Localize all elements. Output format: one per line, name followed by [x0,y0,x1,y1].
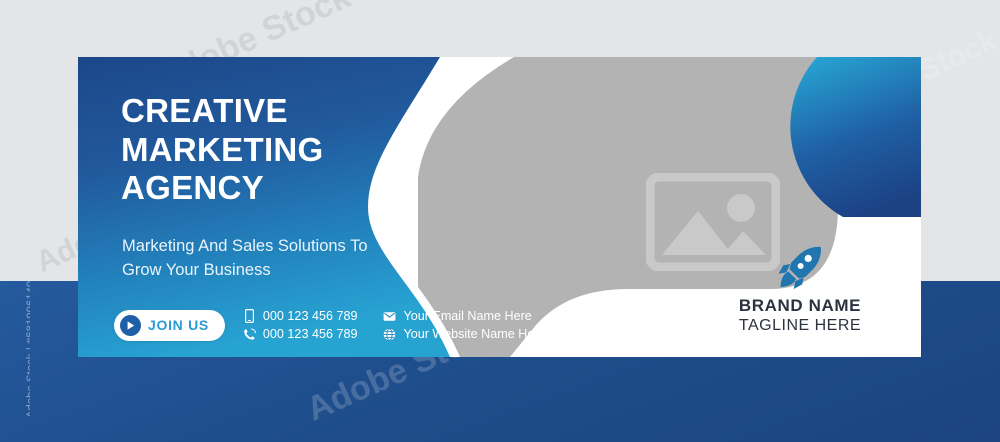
join-us-button[interactable]: JOIN US [114,310,225,341]
banner-card: Creative Marketing Agency Marketing And … [78,57,921,357]
play-circle-icon [120,315,141,336]
mobile-phone-icon [243,309,256,323]
contact-text-mobile: 000 123 456 789 [263,309,358,323]
globe-icon [383,327,396,341]
contact-item-website[interactable]: Your Website Name Here [383,327,545,341]
contact-item-telephone[interactable]: 000 123 456 789 [243,327,358,341]
subtitle-line-2: Grow Your Business [122,259,452,283]
subtitle: Marketing And Sales Solutions To Grow Yo… [122,235,452,283]
brand-lockup: BRAND NAME TAGLINE HERE [707,246,893,335]
stock-watermark-label: Adobe Stock | #581906140 [25,281,30,418]
rocket-icon [707,246,893,290]
corner-accent-circle [751,57,921,217]
contact-text-website: Your Website Name Here [403,327,545,341]
contact-row: JOIN US 000 123 456 789 [114,309,546,341]
headline-line-3: Agency [121,169,451,208]
page-title: Creative Marketing Agency [121,92,451,208]
banner-canvas: Adobe Stock | #581906140 Adobe Stock Ado… [0,0,1000,442]
contact-item-mobile[interactable]: 000 123 456 789 [243,309,358,323]
brand-name: BRAND NAME [707,296,893,316]
join-us-label: JOIN US [148,317,209,333]
subtitle-line-1: Marketing And Sales Solutions To [122,235,452,259]
contact-item-email[interactable]: Your Email Name Here [383,309,545,323]
brand-tagline: TAGLINE HERE [707,316,893,335]
telephone-icon [243,327,256,341]
contact-column-web: Your Email Name Here [383,309,545,341]
contact-column-phones: 000 123 456 789 000 123 456 789 [243,309,358,341]
envelope-icon [383,309,396,323]
stock-watermark-strip: Adobe Stock | #581906140 [0,281,30,442]
contact-text-email: Your Email Name Here [403,309,531,323]
contact-text-telephone: 000 123 456 789 [263,327,358,341]
contact-columns: 000 123 456 789 000 123 456 789 [243,309,546,341]
headline-line-1: Creative [121,92,451,131]
headline-line-2: Marketing [121,131,451,170]
